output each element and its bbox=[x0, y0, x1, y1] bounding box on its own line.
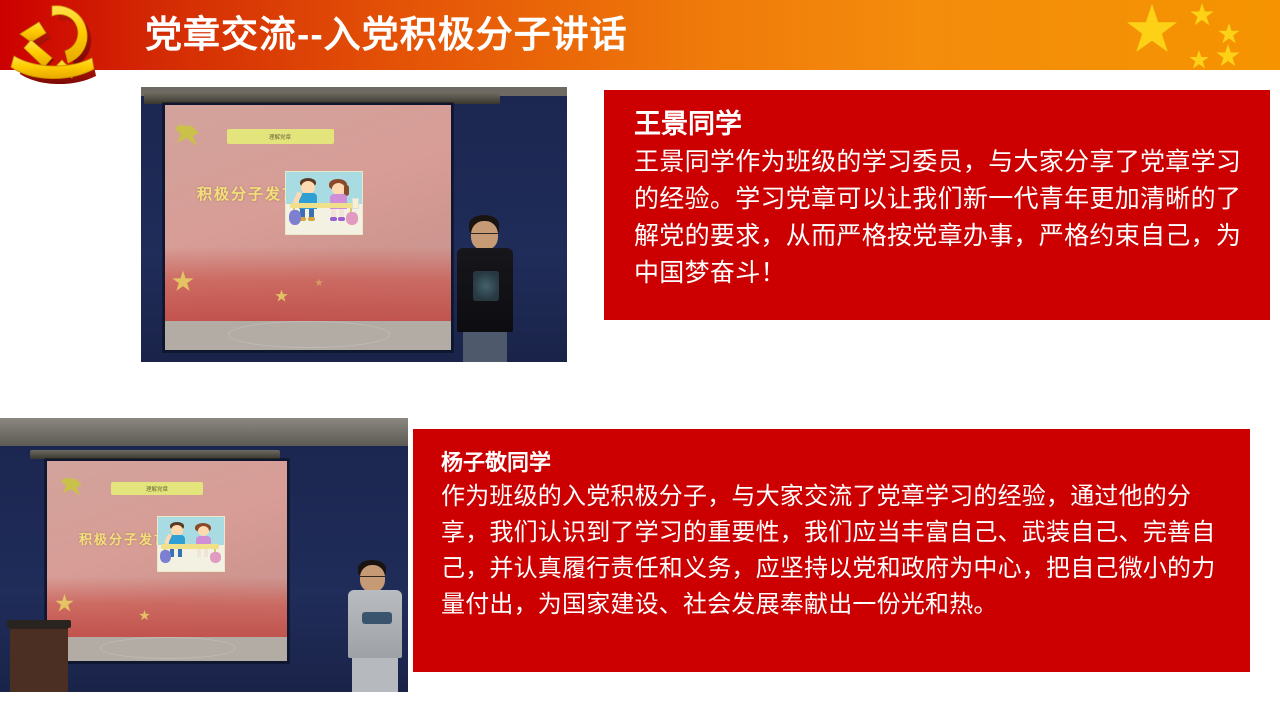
small-star-icon-4 bbox=[1189, 50, 1209, 70]
party-emblem-icon bbox=[175, 125, 199, 146]
card-body: 作为班级的入党积极分子，与大家交流了党章学习的经验，通过他的分享，我们认识到了学… bbox=[441, 479, 1228, 623]
party-hammer-sickle-emblem bbox=[4, 0, 130, 92]
small-star-icon-1 bbox=[1190, 3, 1214, 27]
small-star-icon-2 bbox=[1218, 23, 1240, 45]
party-emblem-icon bbox=[61, 478, 82, 496]
photo-wang-jing: 理解党章 积极分子发言 bbox=[141, 87, 567, 362]
page-header: 党章交流--入党积极分子讲话 bbox=[0, 0, 1280, 70]
slide-title-text: 积极分子发言 bbox=[79, 529, 169, 548]
slide-title-text: 积极分子发言 bbox=[197, 183, 299, 204]
card-title: 王景同学 bbox=[634, 108, 1244, 142]
speaker-figure bbox=[346, 560, 408, 692]
page-title: 党章交流--入党积极分子讲话 bbox=[145, 8, 628, 62]
card-body: 王景同学作为班级的学习委员，与大家分享了党章学习的经验。学习党章可以让我们新一代… bbox=[634, 144, 1244, 292]
small-star-icon-3 bbox=[1216, 44, 1240, 68]
photo-yang-zijing: 理解党章 积极分子发言 bbox=[0, 418, 408, 692]
speaker-card-yang-zijing: 杨子敬同学 作为班级的入党积极分子，与大家交流了党章学习的经验，通过他的分享，我… bbox=[413, 429, 1250, 672]
wall-seal bbox=[228, 321, 390, 348]
slide-banner-text: 理解党章 bbox=[146, 484, 168, 492]
wall-seal bbox=[100, 637, 236, 659]
large-star-icon bbox=[1126, 4, 1178, 56]
slide-banner-text: 理解党章 bbox=[269, 132, 291, 140]
speaker-figure bbox=[453, 215, 519, 362]
card-title: 杨子敬同学 bbox=[441, 449, 1228, 477]
speaker-card-wang-jing: 王景同学 王景同学作为班级的学习委员，与大家分享了党章学习的经验。学习党章可以让… bbox=[604, 90, 1270, 320]
flag-stars-decoration bbox=[1072, 0, 1272, 70]
